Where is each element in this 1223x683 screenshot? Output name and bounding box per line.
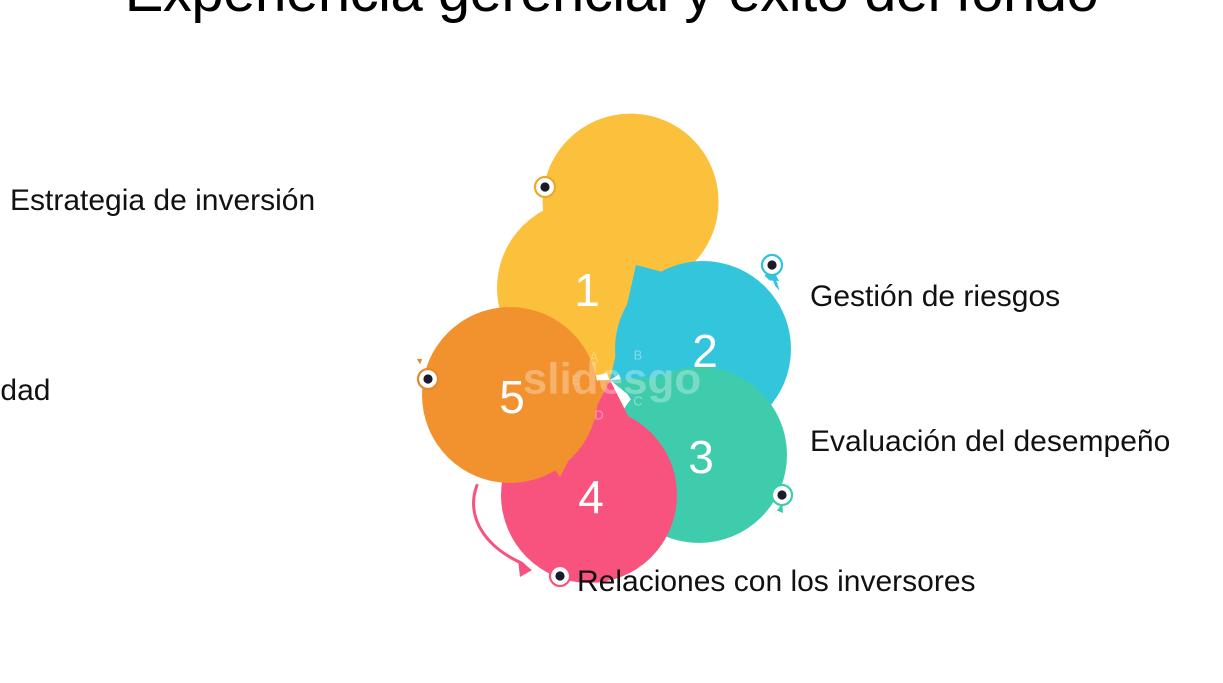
petal-cycle-diagram: 1 2 3 4 5 slidesgo A	[400, 165, 820, 605]
center-letter-a: A	[590, 350, 599, 365]
center-watermark: slidesgo	[523, 355, 702, 404]
callout-label-estrategia-de-inversion: Estrategia de inversión	[10, 184, 315, 217]
target-dot-icon-2[interactable]	[762, 255, 782, 275]
petal-5-number: 5	[499, 371, 525, 423]
petal-3-number: 3	[688, 431, 714, 483]
callout-label-relaciones-con-los-inversores: Relaciones con los inversores	[577, 565, 976, 598]
target-dot-icon-3[interactable]	[772, 485, 792, 505]
callout-label-gestion-de-riesgos: Gestión de riesgos	[810, 280, 1060, 313]
center-letter-d: D	[594, 408, 603, 423]
callout-label-evaluacion-del-desempeno: Evaluación del desempeño	[810, 425, 1170, 458]
center-letter-c: C	[633, 394, 642, 409]
petal-1-number: 1	[574, 264, 600, 316]
petal-4-number: 4	[578, 471, 604, 523]
page-title: Experiencia gerencial y éxito del fondo	[0, 0, 1223, 23]
callout-label-adaptabilidad: ptabilidad	[0, 374, 50, 407]
target-dot-icon-5[interactable]	[418, 369, 438, 389]
center-letter-e: E	[572, 373, 581, 388]
target-dot-icon-4[interactable]	[550, 566, 570, 586]
center-letter-b: B	[634, 348, 643, 363]
target-dot-icon-1[interactable]	[535, 177, 555, 197]
